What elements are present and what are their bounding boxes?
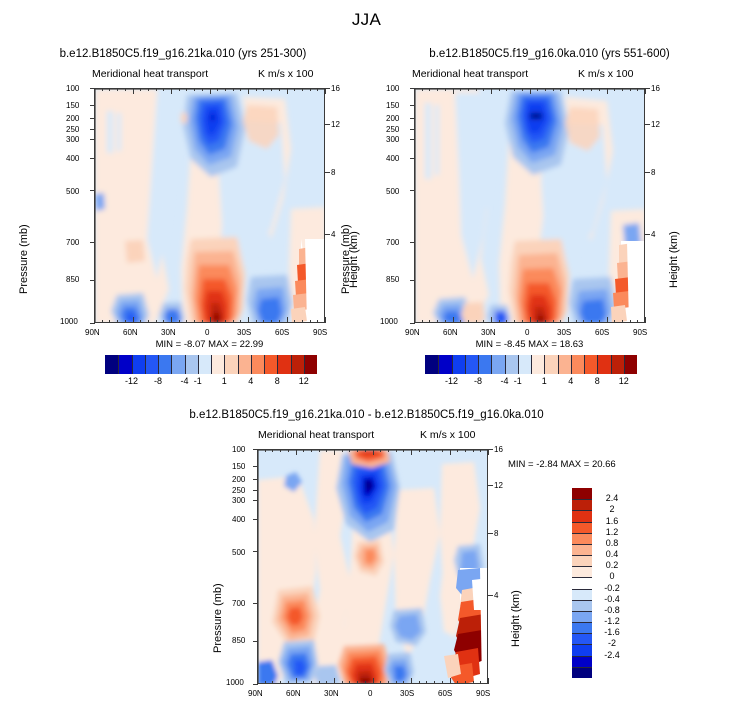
x-axis-tick-top [622, 88, 623, 91]
x-axis-tick-top [326, 449, 327, 452]
x-axis-tick-top [488, 449, 489, 455]
x-axis-tick-top [473, 449, 474, 452]
x-axis-tick-bottom [473, 681, 474, 684]
x-axis-tick-bottom [499, 320, 500, 323]
x-axis-tick-bottom [310, 320, 311, 323]
panel-right-plot-area [414, 88, 645, 323]
x-axis-tick-top [591, 88, 592, 91]
colorbar-tick-label: -0.4 [595, 594, 629, 604]
x-axis-tick-top [279, 88, 280, 91]
panel-right-ytick-850: 850 [386, 275, 399, 284]
x-axis-tick-top [365, 449, 366, 452]
colorbar-tick-label: -2 [595, 638, 629, 648]
panel-right: b.e12.B1850C5.f19_g16.0ka.010 (yrs 551-6… [366, 44, 733, 394]
x-axis-tick-top [288, 449, 289, 452]
colorbar-cell [531, 355, 544, 374]
y-axis-tick [253, 551, 258, 552]
x-axis-tick-top [437, 88, 438, 91]
panel-right-units-label: K m/s x 100 [578, 68, 633, 80]
panel-diff-ytick-250: 250 [232, 486, 245, 495]
panel-right-ytick-700: 700 [386, 238, 399, 247]
x-axis-tick-top [453, 88, 454, 94]
panel-left-xtick-60S: 60S [275, 328, 289, 337]
x-axis-tick-bottom [545, 320, 546, 323]
x-axis-tick-bottom [287, 317, 288, 323]
x-axis-tick-bottom [288, 681, 289, 684]
panel-right-xtick-90S: 90S [633, 328, 647, 337]
panel-right-xtick-30N: 30N [481, 328, 496, 337]
colorbar-tick-label: -0.8 [595, 605, 629, 615]
colorbar-cell [572, 600, 592, 611]
panel-diff-y2-axis-title: Height (km) [510, 590, 522, 647]
x-axis-tick-top [476, 88, 477, 91]
x-axis-tick-bottom [296, 678, 297, 684]
y-axis-tick [90, 118, 95, 119]
x-axis-tick-bottom [522, 320, 523, 323]
panel-diff-xtick-30S: 30S [400, 689, 414, 698]
x-axis-tick-top [373, 449, 374, 455]
colorbar-cell [491, 355, 504, 374]
y2-axis-tick [325, 234, 330, 235]
x-axis-tick-top [317, 88, 318, 91]
colorbar-left-cells [105, 355, 317, 374]
colorbar-tick-label: -8 [474, 376, 482, 386]
panel-diff-minmax: MIN = -2.84 MAX = 20.66 [508, 459, 678, 470]
panel-diff-y-axis-title: Pressure (mb) [212, 583, 224, 653]
colorbar-tick-label: 0 [595, 571, 629, 581]
x-axis-tick-bottom [217, 320, 218, 323]
x-axis-tick-bottom [576, 320, 577, 323]
x-axis-tick-top [388, 449, 389, 452]
x-axis-tick-top [445, 88, 446, 91]
x-axis-tick-top [94, 88, 95, 94]
x-axis-tick-top [202, 88, 203, 91]
colorbar-cell [198, 355, 211, 374]
panel-left-ytick-400: 400 [66, 154, 79, 163]
x-axis-tick-top [125, 88, 126, 91]
x-axis-tick-top [576, 88, 577, 91]
panel-left-minmax: MIN = -8.07 MAX = 22.99 [94, 339, 325, 350]
panel-right-ytick-200: 200 [386, 114, 399, 123]
y-axis-tick [90, 158, 95, 159]
colorbar-tick-label: 4 [248, 376, 253, 386]
x-axis-tick-top [506, 88, 507, 91]
x-axis-tick-top [553, 88, 554, 91]
panel-right-xtick-90N: 90N [405, 328, 420, 337]
x-axis-tick-bottom [422, 320, 423, 323]
x-axis-tick-bottom [265, 681, 266, 684]
panel-left-xtick-0: 0 [205, 328, 209, 337]
x-axis-tick-top [349, 449, 350, 452]
x-axis-tick-top [102, 88, 103, 91]
panel-left-title: b.e12.B1850C5.f19_g16.21ka.010 (yrs 251-… [0, 48, 366, 60]
x-axis-tick-bottom [179, 320, 180, 323]
x-axis-tick-bottom [257, 678, 258, 684]
y2-axis-tick [488, 595, 493, 596]
panel-right-y2tick-8: 8 [651, 168, 655, 177]
colorbar-cell [425, 355, 438, 374]
x-axis-tick-bottom [357, 681, 358, 684]
colorbar-cell [251, 355, 264, 374]
x-axis-tick-top [419, 449, 420, 452]
x-axis-tick-top [499, 88, 500, 91]
x-axis-tick-bottom [148, 320, 149, 323]
x-axis-tick-top [583, 88, 584, 91]
panel-diff-ytick-700: 700 [232, 599, 245, 608]
panel-right-y2tick-16: 16 [651, 84, 660, 93]
panel-diff-ytick-500: 500 [232, 548, 245, 557]
x-axis-tick-bottom [560, 320, 561, 323]
x-axis-tick-bottom [233, 320, 234, 323]
panel-diff-ytick-300: 300 [232, 496, 245, 505]
colorbar-cell [597, 355, 610, 374]
panel-left-plot-area [94, 88, 325, 323]
x-axis-tick-top [163, 88, 164, 91]
x-axis-tick-top [319, 449, 320, 452]
colorbar-cell [572, 667, 592, 678]
x-axis-tick-top [225, 88, 226, 91]
x-axis-tick-bottom [311, 681, 312, 684]
panel-left-y2tick-4: 4 [331, 230, 335, 239]
colorbar-tick-label: 0.8 [595, 538, 629, 548]
x-axis-tick-top [434, 449, 435, 452]
panel-right-y2-axis-title: Height (km) [668, 231, 680, 288]
x-axis-tick-bottom [450, 678, 451, 684]
x-axis-tick-top [263, 88, 264, 91]
colorbar-tick-label: -4 [180, 376, 188, 386]
x-axis-tick-top [280, 449, 281, 452]
x-axis-tick-bottom [530, 317, 531, 323]
x-axis-tick-bottom [553, 320, 554, 323]
panel-left-xtick-90N: 90N [85, 328, 100, 337]
x-axis-tick-bottom [426, 681, 427, 684]
panel-diff-y2tick-4: 4 [494, 591, 498, 600]
x-axis-tick-top [522, 88, 523, 91]
panel-right-xtick-30S: 30S [557, 328, 571, 337]
panel-diff-ytick-100: 100 [232, 445, 245, 454]
colorbar-right-cells [425, 355, 637, 374]
colorbar-cell [571, 355, 584, 374]
x-axis-tick-top [148, 88, 149, 91]
y2-axis-tick [645, 234, 650, 235]
colorbar-diff: 2.421.61.20.80.40.20-0.2-0.4-0.8-1.2-1.6… [572, 488, 632, 678]
x-axis-tick-bottom [109, 320, 110, 323]
x-axis-tick-bottom [568, 317, 569, 323]
y2-axis-tick [645, 172, 650, 173]
colorbar-cell [572, 644, 592, 655]
panel-diff-y2tick-12: 12 [494, 481, 503, 490]
x-axis-tick-top [560, 88, 561, 91]
y-axis-tick [410, 158, 415, 159]
panel-right-ytick-300: 300 [386, 135, 399, 144]
x-axis-tick-top [109, 88, 110, 91]
y-axis-tick [253, 603, 258, 604]
panel-right-ytick-1000: 1000 [380, 317, 398, 326]
colorbar-cell [572, 499, 592, 510]
x-axis-tick-top [465, 449, 466, 452]
x-axis-tick-top [568, 88, 569, 94]
x-axis-tick-top [607, 88, 608, 94]
x-axis-tick-bottom [334, 678, 335, 684]
x-axis-tick-top [599, 88, 600, 91]
panel-right-minmax: MIN = -8.45 MAX = 18.63 [414, 339, 645, 350]
x-axis-tick-top [429, 88, 430, 91]
x-axis-tick-bottom [442, 681, 443, 684]
x-axis-tick-top [325, 88, 326, 94]
x-axis-tick-bottom [506, 320, 507, 323]
panel-left-y2tick-8: 8 [331, 168, 335, 177]
panel-diff-title: b.e12.B1850C5.f19_g16.21ka.010 - b.e12.B… [0, 409, 733, 421]
x-axis-tick-top [140, 88, 141, 91]
panel-diff-y2tick-16: 16 [494, 445, 503, 454]
x-axis-tick-top [403, 449, 404, 452]
colorbar-cell [118, 355, 131, 374]
y-axis-tick [253, 519, 258, 520]
x-axis-tick-top [450, 449, 451, 455]
y2-axis-tick [325, 172, 330, 173]
colorbar-tick-label: 2.4 [595, 493, 629, 503]
x-axis-tick-bottom [365, 681, 366, 684]
panel-left-ytick-300: 300 [66, 135, 79, 144]
y-axis-tick [410, 139, 415, 140]
colorbar-cell [291, 355, 304, 374]
y-axis-tick [253, 500, 258, 501]
colorbar-cell [238, 355, 251, 374]
colorbar-cell [158, 355, 171, 374]
panel-left-ytick-1000: 1000 [60, 317, 78, 326]
x-axis-tick-bottom [396, 681, 397, 684]
x-axis-tick-bottom [140, 320, 141, 323]
x-axis-tick-bottom [263, 320, 264, 323]
x-axis-tick-top [272, 449, 273, 452]
panel-left-ytick-150: 150 [66, 101, 79, 110]
panel-right-xtick-60S: 60S [595, 328, 609, 337]
x-axis-tick-bottom [279, 320, 280, 323]
x-axis-tick-top [414, 88, 415, 94]
x-axis-tick-top [302, 88, 303, 91]
x-axis-tick-bottom [457, 681, 458, 684]
y-axis-tick [90, 242, 95, 243]
x-axis-tick-bottom [622, 320, 623, 323]
colorbar-tick-label: -12 [125, 376, 138, 386]
x-axis-tick-top [396, 449, 397, 452]
x-axis-tick-bottom [460, 320, 461, 323]
panel-left-xtick-30N: 30N [161, 328, 176, 337]
colorbar-cell [224, 355, 237, 374]
colorbar-tick-label: 2 [595, 504, 629, 514]
x-axis-tick-bottom [488, 678, 489, 684]
panel-right-ytick-250: 250 [386, 125, 399, 134]
x-axis-tick-bottom [302, 320, 303, 323]
x-axis-tick-bottom [225, 320, 226, 323]
panel-left-ytick-700: 700 [66, 238, 79, 247]
x-axis-tick-bottom [480, 681, 481, 684]
x-axis-tick-bottom [583, 320, 584, 323]
colorbar-cell [572, 656, 592, 667]
panel-diff-ytick-1000: 1000 [226, 678, 244, 687]
y-axis-tick [90, 280, 95, 281]
x-axis-tick-top [240, 88, 241, 91]
x-axis-tick-top [442, 449, 443, 452]
colorbar-cell [478, 355, 491, 374]
panel-diff-xtick-90S: 90S [476, 689, 490, 698]
x-axis-tick-top [156, 88, 157, 91]
x-axis-tick-top [171, 88, 172, 94]
x-axis-tick-top [514, 88, 515, 91]
panel-right-y2tick-12: 12 [651, 120, 660, 129]
colorbar-cell [505, 355, 518, 374]
colorbar-cell [572, 544, 592, 555]
x-axis-tick-bottom [465, 681, 466, 684]
x-axis-tick-bottom [599, 320, 600, 323]
colorbar-tick-label: -4 [500, 376, 508, 386]
colorbar-tick-label: -1 [514, 376, 522, 386]
y-axis-tick [253, 641, 258, 642]
x-axis-tick-top [637, 88, 638, 91]
colorbar-tick-label: 4 [568, 376, 573, 386]
x-axis-tick-bottom [156, 320, 157, 323]
x-axis-tick-bottom [248, 317, 249, 323]
y-axis-tick [253, 684, 258, 685]
x-axis-tick-top [117, 88, 118, 91]
colorbar-cell [185, 355, 198, 374]
x-axis-tick-top [186, 88, 187, 91]
panel-left-ytick-250: 250 [66, 125, 79, 134]
colorbar-cell [105, 355, 118, 374]
panel-left-xtick-90S: 90S [313, 328, 327, 337]
panel-diff-contour-field [258, 450, 488, 684]
x-axis-tick-top [303, 449, 304, 452]
y-axis-tick [253, 479, 258, 480]
colorbar-tick-label: 12 [619, 376, 629, 386]
x-axis-tick-top [233, 88, 234, 91]
x-axis-tick-bottom [349, 681, 350, 684]
y-axis-tick [253, 466, 258, 467]
colorbar-cell [572, 622, 592, 633]
x-axis-tick-bottom [453, 317, 454, 323]
x-axis-tick-bottom [403, 681, 404, 684]
x-axis-tick-top [530, 88, 531, 94]
x-axis-tick-bottom [210, 317, 211, 323]
colorbar-cell [572, 533, 592, 544]
panel-diff-ytick-850: 850 [232, 636, 245, 645]
x-axis-tick-bottom [271, 320, 272, 323]
y-axis-tick [410, 190, 415, 191]
y-axis-tick [410, 105, 415, 106]
panel-right-ytick-400: 400 [386, 154, 399, 163]
colorbar-cell [572, 589, 592, 600]
colorbar-tick-label: 1.6 [595, 516, 629, 526]
panel-left-ytick-850: 850 [66, 275, 79, 284]
panel-left-ytick-500: 500 [66, 187, 79, 196]
x-axis-tick-bottom [514, 320, 515, 323]
x-axis-tick-bottom [537, 320, 538, 323]
y-axis-tick [410, 280, 415, 281]
colorbar-right-labels: -12-8-4-114812 [425, 376, 637, 392]
panel-right-ytick-150: 150 [386, 101, 399, 110]
colorbar-cell [611, 355, 624, 374]
x-axis-tick-bottom [614, 320, 615, 323]
panel-left-y2tick-12: 12 [331, 120, 340, 129]
colorbar-cell [558, 355, 571, 374]
y-axis-tick [410, 323, 415, 324]
colorbar-cell [438, 355, 451, 374]
x-axis-tick-top [357, 449, 358, 452]
page-title: JJA [0, 10, 733, 30]
x-axis-tick-top [287, 88, 288, 94]
y-axis-tick [410, 129, 415, 130]
colorbar-cell [304, 355, 317, 374]
x-axis-tick-top [194, 88, 195, 91]
colorbar-left: -12-8-4-114812 [105, 355, 317, 395]
x-axis-tick-top [248, 88, 249, 94]
x-axis-tick-bottom [194, 320, 195, 323]
panel-right-contour-field [415, 89, 645, 323]
x-axis-tick-bottom [272, 681, 273, 684]
panel-diff-xtick-60N: 60N [286, 689, 301, 698]
colorbar-cell [572, 510, 592, 521]
x-axis-tick-bottom [186, 320, 187, 323]
y-axis-tick [410, 118, 415, 119]
x-axis-tick-bottom [476, 320, 477, 323]
x-axis-tick-bottom [256, 320, 257, 323]
panel-diff-ytick-150: 150 [232, 462, 245, 471]
colorbar-diff-labels: 2.421.61.20.80.40.20-0.2-0.4-0.8-1.2-1.6… [595, 488, 631, 678]
panel-diff-xtick-0: 0 [368, 689, 372, 698]
x-axis-tick-bottom [630, 320, 631, 323]
x-axis-tick-bottom [125, 320, 126, 323]
x-axis-tick-bottom [591, 320, 592, 323]
y2-axis-tick [325, 124, 330, 125]
x-axis-tick-bottom [342, 681, 343, 684]
y-axis-tick [90, 323, 95, 324]
x-axis-tick-bottom [117, 320, 118, 323]
panel-right-y-axis-title: Pressure (mb) [340, 224, 352, 294]
panel-left-xtick-30S: 30S [237, 328, 251, 337]
y-axis-tick [410, 242, 415, 243]
x-axis-tick-top [217, 88, 218, 91]
x-axis-tick-bottom [411, 678, 412, 684]
panel-left-units-label: K m/s x 100 [258, 68, 313, 80]
y-axis-tick [90, 139, 95, 140]
x-axis-tick-bottom [326, 681, 327, 684]
panel-diff-units-label: K m/s x 100 [420, 429, 475, 441]
y2-axis-tick [645, 124, 650, 125]
colorbar-tick-label: -1 [194, 376, 202, 386]
panel-left-variable-label: Meridional heat transport [92, 68, 208, 80]
colorbar-cell [572, 522, 592, 533]
colorbar-cell [572, 577, 592, 588]
x-axis-tick-top [491, 88, 492, 94]
panel-right-ytick-500: 500 [386, 187, 399, 196]
x-axis-tick-top [342, 449, 343, 452]
colorbar-cell [132, 355, 145, 374]
x-axis-tick-top [614, 88, 615, 91]
x-axis-tick-top [411, 449, 412, 455]
x-axis-tick-top [265, 449, 266, 452]
x-axis-tick-bottom [171, 317, 172, 323]
colorbar-cell [465, 355, 478, 374]
y-axis-tick [90, 129, 95, 130]
x-axis-tick-top [457, 449, 458, 452]
x-axis-tick-bottom [240, 320, 241, 323]
x-axis-tick-bottom [645, 317, 646, 323]
x-axis-tick-top [310, 88, 311, 91]
panel-right-title: b.e12.B1850C5.f19_g16.0ka.010 (yrs 551-6… [366, 48, 733, 60]
x-axis-tick-bottom [491, 317, 492, 323]
x-axis-tick-bottom [202, 320, 203, 323]
colorbar-tick-label: 1.2 [595, 527, 629, 537]
